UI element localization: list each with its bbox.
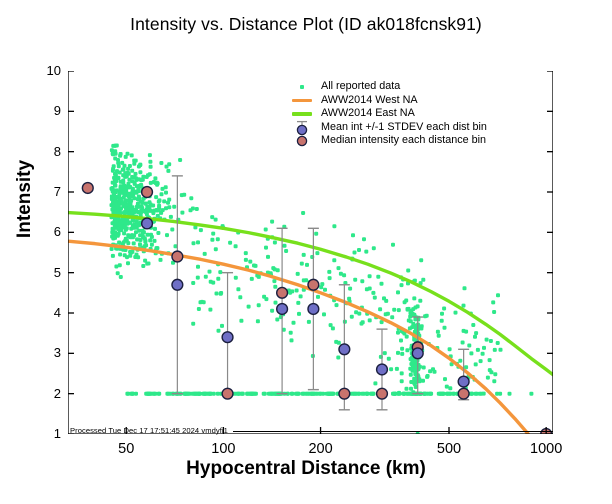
scatter-point: [119, 275, 123, 279]
scatter-point: [155, 183, 159, 187]
scatter-point: [416, 375, 420, 379]
scatter-point: [219, 292, 223, 296]
scatter-point: [172, 205, 176, 209]
scatter-point: [143, 259, 147, 263]
scatter-point: [437, 334, 441, 338]
scatter-point: [122, 231, 126, 235]
y-tick-label: 6: [35, 224, 61, 239]
scatter-point: [336, 356, 340, 360]
legend-key-marker: [283, 134, 321, 148]
scatter-point: [118, 171, 122, 175]
scatter-point: [198, 392, 202, 396]
scatter-point: [113, 219, 117, 223]
scatter-point: [365, 392, 369, 396]
legend-key-dot: [283, 85, 321, 89]
scatter-point: [332, 224, 336, 228]
scatter-point: [292, 321, 296, 325]
scatter-point: [153, 239, 157, 243]
scatter-point: [406, 307, 410, 311]
scatter-point: [180, 211, 184, 215]
scatter-point: [249, 392, 253, 396]
scatter-point: [240, 392, 244, 396]
scatter-point: [110, 235, 114, 239]
scatter-point: [192, 241, 196, 245]
scatter-point: [409, 387, 413, 391]
scatter-point: [368, 274, 372, 278]
scatter-point: [289, 331, 293, 335]
scatter-point: [329, 323, 333, 327]
scatter-point: [121, 201, 125, 205]
legend-item-1[interactable]: AWW2014 West NA: [283, 94, 487, 108]
scatter-point: [208, 270, 212, 274]
scatter-point: [234, 276, 238, 280]
scatter-point: [144, 202, 148, 206]
scatter-point: [124, 228, 128, 232]
mean-intensity-marker: [412, 348, 423, 359]
scatter-point: [196, 240, 200, 244]
scatter-point: [216, 277, 220, 281]
scatter-point: [396, 290, 400, 294]
scatter-point: [157, 204, 161, 208]
scatter-point: [157, 392, 161, 396]
y-tick-label: 8: [35, 144, 61, 159]
scatter-point: [195, 207, 199, 211]
scatter-point: [296, 301, 300, 305]
scatter-point: [404, 299, 408, 303]
scatter-point: [351, 233, 355, 237]
scatter-point: [210, 238, 214, 242]
scatter-point: [164, 185, 168, 189]
scatter-point: [130, 153, 134, 157]
scatter-point: [119, 197, 123, 201]
scatter-point: [210, 215, 214, 219]
scatter-point: [131, 392, 135, 396]
scatter-point: [529, 392, 533, 396]
legend-label: AWW2014 West NA: [321, 94, 418, 108]
scatter-point: [247, 305, 251, 309]
scatter-point: [111, 167, 115, 171]
scatter-point: [114, 179, 118, 183]
scatter-point: [248, 260, 252, 264]
scatter-point: [146, 233, 150, 237]
scatter-point: [152, 209, 156, 213]
scatter-point: [114, 265, 118, 269]
scatter-point: [469, 351, 473, 355]
y-tick-label: 9: [35, 103, 61, 118]
legend-label: All reported data: [321, 80, 400, 94]
scatter-point: [153, 176, 157, 180]
scatter-point: [339, 272, 343, 276]
scatter-point: [134, 159, 138, 163]
scatter-point: [132, 241, 136, 245]
scatter-point: [295, 289, 299, 293]
scatter-point: [148, 238, 152, 242]
scatter-point: [400, 371, 404, 375]
curve-aww2014-west-na: [68, 241, 528, 434]
scatter-point: [270, 220, 274, 224]
scatter-point: [290, 392, 294, 396]
scatter-point: [137, 205, 141, 209]
scatter-point: [440, 312, 444, 316]
scatter-point: [412, 296, 416, 300]
median-intensity-marker: [339, 388, 350, 399]
scatter-point: [445, 385, 449, 389]
scatter-point: [476, 348, 480, 352]
scatter-point: [373, 296, 377, 300]
legend-mean-errorbar-icon: [293, 121, 311, 135]
scatter-point: [139, 184, 143, 188]
scatter-point: [113, 184, 117, 188]
scatter-point: [273, 241, 277, 245]
scatter-point: [186, 392, 190, 396]
scatter-point: [489, 370, 493, 374]
scatter-point: [137, 177, 141, 181]
scatter-point: [145, 392, 149, 396]
scatter-point: [150, 243, 154, 247]
scatter-point: [412, 381, 416, 385]
x-tick-label: 200: [291, 441, 351, 457]
scatter-point: [353, 251, 357, 255]
scatter-point: [418, 299, 422, 303]
scatter-point: [119, 228, 123, 232]
scatter-point: [220, 324, 224, 328]
scatter-point: [204, 275, 208, 279]
scatter-point: [373, 381, 377, 385]
scatter-point: [448, 347, 452, 351]
scatter-point: [491, 300, 495, 304]
scatter-point: [409, 373, 413, 377]
legend-label: AWW2014 East NA: [321, 107, 415, 121]
scatter-point: [207, 392, 211, 396]
scatter-point: [130, 179, 134, 183]
scatter-point: [461, 341, 465, 345]
scatter-point: [119, 180, 123, 184]
scatter-point: [148, 153, 152, 157]
scatter-point: [327, 270, 331, 274]
scatter-point: [164, 191, 168, 195]
scatter-point: [311, 392, 315, 396]
y-axis-label: Intensity: [14, 134, 36, 264]
scatter-point: [389, 367, 393, 371]
scatter-point: [135, 191, 139, 195]
scatter-point: [440, 392, 444, 396]
scatter-point: [474, 392, 478, 396]
scatter-point: [463, 286, 467, 290]
scatter-point: [348, 287, 352, 291]
scatter-point: [307, 320, 311, 324]
scatter-point: [203, 392, 207, 396]
scatter-point: [482, 346, 486, 350]
legend-item-4[interactable]: Median intensity each distance bin: [283, 134, 487, 148]
scatter-point: [399, 339, 403, 343]
scatter-point: [152, 392, 156, 396]
scatter-point: [155, 246, 159, 250]
scatter-point: [123, 171, 127, 175]
scatter-point: [274, 301, 278, 305]
scatter-point: [114, 189, 118, 193]
scatter-point: [146, 173, 150, 177]
scatter-point: [368, 318, 372, 322]
scatter-point: [158, 198, 162, 202]
scatter-point: [421, 278, 425, 282]
scatter-point: [495, 392, 499, 396]
scatter-point: [112, 195, 116, 199]
scatter-point: [113, 172, 117, 176]
legend-key-line: [283, 99, 321, 102]
legend-item-0[interactable]: All reported data: [283, 80, 487, 94]
scatter-point: [496, 293, 500, 297]
scatter-point: [493, 372, 497, 376]
scatter-point: [360, 279, 364, 283]
scatter-point: [136, 255, 140, 259]
scatter-point: [304, 392, 308, 396]
scatter-point: [191, 322, 195, 326]
scatter-point: [314, 232, 318, 236]
scatter-point: [296, 392, 300, 396]
scatter-point: [190, 392, 194, 396]
median-intensity-marker: [458, 388, 469, 399]
scatter-point: [165, 165, 169, 169]
scatter-point: [297, 312, 301, 316]
scatter-point: [117, 204, 121, 208]
scatter-point: [368, 287, 372, 291]
scatter-point: [116, 161, 120, 165]
scatter-point: [131, 187, 135, 191]
scatter-point: [352, 392, 356, 396]
scatter-point: [464, 330, 468, 334]
scatter-point: [123, 224, 127, 228]
scatter-point: [168, 392, 172, 396]
scatter-point: [262, 295, 266, 299]
scatter-point: [380, 282, 384, 286]
scatter-point: [481, 352, 485, 356]
scatter-point: [111, 254, 115, 258]
scatter-point: [127, 182, 131, 186]
scatter-point: [110, 231, 114, 235]
scatter-point: [273, 267, 277, 271]
scatter-point: [436, 330, 440, 334]
x-tick-label: 100: [193, 441, 253, 457]
scatter-point: [458, 359, 462, 363]
legend-line-icon: [292, 112, 312, 115]
scatter-point: [142, 244, 146, 248]
scatter-point: [123, 253, 127, 257]
scatter-point: [332, 258, 336, 262]
scatter-point: [270, 392, 274, 396]
scatter-point: [136, 210, 140, 214]
scatter-point: [452, 392, 456, 396]
median-intensity-marker: [308, 279, 319, 290]
scatter-point: [123, 190, 127, 194]
scatter-point: [410, 325, 414, 329]
chart-legend: All reported dataAWW2014 West NAAWW2014 …: [283, 80, 487, 148]
scatter-point: [443, 377, 447, 381]
scatter-point: [384, 312, 388, 316]
scatter-point: [182, 193, 186, 197]
scatter-point: [409, 362, 413, 366]
scatter-point: [237, 392, 241, 396]
legend-label: Median intensity each distance bin: [321, 134, 486, 148]
scatter-point: [440, 319, 444, 323]
scatter-point: [141, 229, 145, 233]
scatter-point: [406, 269, 410, 273]
scatter-point: [138, 242, 142, 246]
legend-line-icon: [292, 99, 312, 102]
scatter-point: [157, 208, 161, 212]
median-intensity-marker: [172, 251, 183, 262]
scatter-point: [328, 276, 332, 280]
scatter-point: [423, 314, 427, 318]
legend-median-dot-icon: [293, 134, 311, 148]
mean-intensity-marker: [172, 279, 183, 290]
scatter-point: [140, 206, 144, 210]
scatter-point: [400, 379, 404, 383]
scatter-point: [284, 249, 288, 253]
scatter-point: [471, 323, 475, 327]
scatter-point: [320, 282, 324, 286]
scatter-point: [130, 169, 134, 173]
scatter-point: [273, 285, 277, 289]
scatter-point: [337, 266, 341, 270]
scatter-point: [127, 208, 131, 212]
scatter-point: [414, 306, 418, 310]
scatter-point: [462, 304, 466, 308]
footnote-leader-rule: [233, 431, 553, 432]
scatter-point: [189, 196, 193, 200]
processing-footnote: Processed Tue Dec 17 17:51:45 2024 vmdyf…: [70, 426, 228, 435]
scatter-point: [244, 251, 248, 255]
scatter-point: [238, 295, 242, 299]
scatter-point: [318, 392, 322, 396]
legend-item-2[interactable]: AWW2014 East NA: [283, 107, 487, 121]
scatter-point: [489, 339, 493, 343]
mean-intensity-marker: [377, 364, 388, 375]
scatter-point: [400, 283, 404, 287]
y-tick-label: 7: [35, 184, 61, 199]
scatter-point: [117, 241, 121, 245]
median-intensity-marker: [222, 388, 233, 399]
scatter-point: [154, 195, 158, 199]
scatter-point: [288, 291, 292, 295]
scatter-point: [383, 351, 387, 355]
x-tick-label: 1000: [516, 441, 576, 457]
scatter-point: [392, 308, 396, 312]
mean-intensity-marker: [277, 304, 288, 315]
scatter-point: [141, 264, 145, 268]
scatter-point: [130, 250, 134, 254]
scatter-point: [290, 338, 294, 342]
scatter-point: [149, 233, 153, 237]
scatter-point: [448, 392, 452, 396]
scatter-point: [214, 218, 218, 222]
scatter-point: [119, 186, 123, 190]
scatter-point: [138, 163, 142, 167]
median-intensity-marker: [82, 183, 93, 194]
scatter-point: [199, 228, 203, 232]
scatter-point: [202, 300, 206, 304]
scatter-point: [474, 331, 478, 335]
scatter-point: [485, 338, 489, 342]
scatter-point: [118, 154, 122, 158]
scatter-point: [149, 165, 153, 169]
scatter-point: [122, 184, 126, 188]
scatter-point: [422, 366, 426, 370]
scatter-point: [135, 219, 139, 223]
scatter-point: [395, 367, 399, 371]
scatter-point: [443, 326, 447, 330]
scatter-point: [148, 160, 152, 164]
scatter-point: [149, 181, 153, 185]
scatter-point: [382, 296, 386, 300]
x-tick-label: 500: [419, 441, 479, 457]
scatter-point: [113, 223, 117, 227]
scatter-point: [143, 237, 147, 241]
scatter-point: [467, 344, 471, 348]
scatter-point: [448, 386, 452, 390]
scatter-point: [402, 392, 406, 396]
scatter-point: [396, 351, 400, 355]
scatter-point: [228, 241, 232, 245]
scatter-point: [131, 226, 135, 230]
scatter-point: [474, 362, 478, 366]
scatter-point: [488, 358, 492, 362]
scatter-point: [191, 281, 195, 285]
scatter-point: [216, 237, 220, 241]
scatter-point: [364, 250, 368, 254]
scatter-point: [479, 359, 483, 363]
scatter-point: [305, 263, 309, 267]
scatter-point: [110, 208, 114, 212]
median-intensity-marker: [377, 388, 388, 399]
scatter-point: [134, 172, 138, 176]
scatter-point: [128, 164, 132, 168]
scatter-point: [400, 352, 404, 356]
scatter-point: [166, 169, 170, 173]
scatter-point: [405, 387, 409, 391]
x-axis-label: Hypocentral Distance (km): [0, 458, 612, 480]
scatter-point: [323, 288, 327, 292]
scatter-point: [473, 335, 477, 339]
scatter-point: [508, 392, 512, 396]
scatter-point: [203, 252, 207, 256]
legend-scatter-dot-icon: [300, 85, 304, 89]
scatter-point: [499, 348, 503, 352]
scatter-point: [161, 208, 165, 212]
scatter-point: [378, 307, 382, 311]
scatter-point: [236, 287, 240, 291]
scatter-point: [492, 310, 496, 314]
scatter-point: [159, 258, 163, 262]
scatter-point: [211, 232, 215, 236]
scatter-point: [275, 318, 279, 322]
scatter-point: [128, 195, 132, 199]
scatter-point: [126, 185, 130, 189]
scatter-point: [270, 309, 274, 313]
legend-key-marker: [283, 121, 321, 135]
scatter-point: [369, 392, 373, 396]
mean-intensity-marker: [308, 304, 319, 315]
chart-figure: Intensity vs. Distance Plot (ID ak018fcn…: [0, 0, 612, 504]
legend-label: Mean int +/-1 STDEV each dist bin: [321, 121, 487, 135]
scatter-point: [397, 308, 401, 312]
legend-key-line: [283, 112, 321, 115]
scatter-point: [126, 233, 130, 237]
scatter-point: [421, 379, 425, 383]
scatter-point: [196, 265, 200, 269]
scatter-point: [283, 244, 287, 248]
legend-item-3[interactable]: Mean int +/-1 STDEV each dist bin: [283, 121, 487, 135]
scatter-point: [470, 392, 474, 396]
